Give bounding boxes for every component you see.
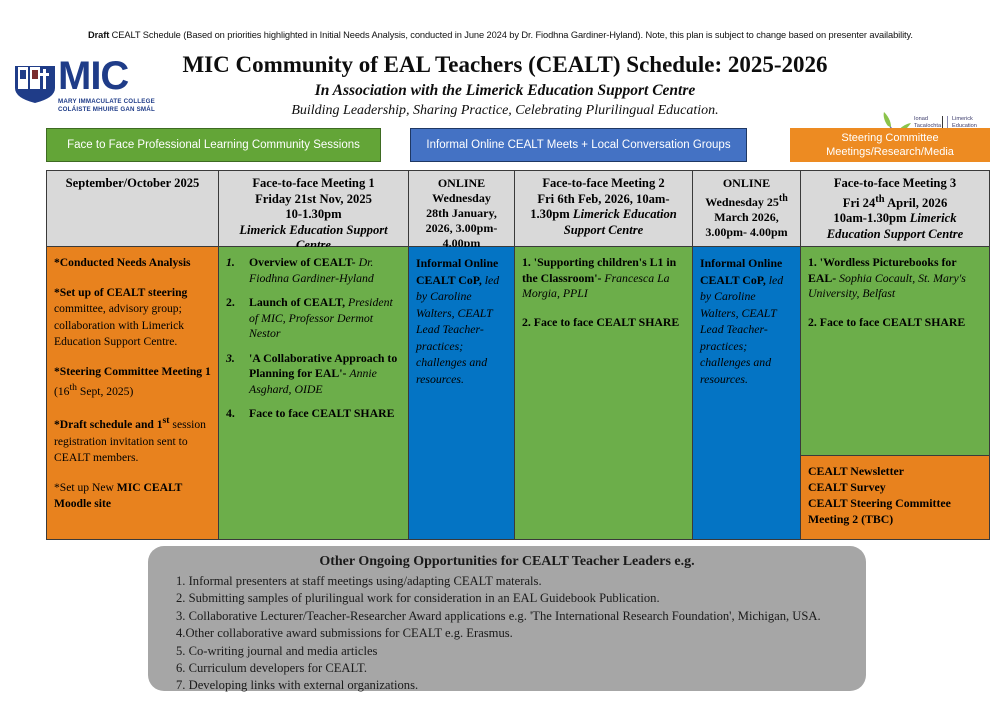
ongoing-opportunities-panel: Other Ongoing Opportunities for CEALT Te… (148, 546, 866, 691)
cell-paragraph: 2. Face to face CEALT SHARE (522, 315, 685, 331)
schedule-column-5: ONLINE Wednesday 25th March 2026, 3.00pm… (693, 171, 801, 539)
list-item-text: Launch of CEALT, President of MIC, Profe… (249, 295, 401, 342)
list-item-number: 1. (226, 255, 242, 286)
schedule-column-3: ONLINE Wednesday 28th January, 2026, 3.0… (409, 171, 515, 539)
column-body-1: *Conducted Needs Analysis *Set up of CEA… (47, 247, 218, 539)
cell-paragraph: *Steering Committee Meeting 1 (16th Sept… (54, 364, 211, 401)
list-item: 2. Submitting samples of plurilingual wo… (162, 590, 852, 607)
footer-line-1: CEALT Newsletter (808, 463, 982, 479)
column-header-4-line3: 1.30pm Limerick Education Support Centre (520, 207, 687, 238)
cell-paragraph: *Set up New MIC CEALT Moodle site (54, 480, 211, 513)
cell-paragraph: *Draft schedule and 1st session registra… (54, 413, 211, 466)
schedule-column-4: Face-to-face Meeting 2 Fri 6th Feb, 2026… (515, 171, 693, 539)
column-header-3-line2: Wednesday (414, 191, 509, 206)
column-header-2-line3: 10-1.30pm (224, 207, 403, 223)
mic-logo-letters: MIC (58, 56, 128, 96)
schedule-table: September/October 2025 *Conducted Needs … (46, 170, 990, 540)
footer-line-3: CEALT Steering Committee Meeting 2 (TBC) (808, 495, 982, 527)
column-header-3-line3: 28th January, (414, 206, 509, 221)
column-header-2-line2: Friday 21st Nov, 2025 (224, 192, 403, 208)
mic-crest-icon (14, 58, 56, 104)
mic-logo: MIC MARY IMMACULATE COLLEGE COLÁISTE MHU… (14, 58, 154, 118)
list-item: 2. Launch of CEALT, President of MIC, Pr… (226, 295, 401, 342)
schedule-column-2: Face-to-face Meeting 1 Friday 21st Nov, … (219, 171, 409, 539)
page-tagline: Building Leadership, Sharing Practice, C… (155, 102, 855, 120)
cell-paragraph: Informal Online CEALT CoP, led by Caroli… (416, 255, 507, 387)
list-item: 3. Collaborative Lecturer/Teacher-Resear… (162, 608, 852, 625)
cell-paragraph: 1. 'Wordless Picturebooks for EAL- Sophi… (808, 255, 982, 302)
cell-paragraph: 2. Face to face CEALT SHARE (808, 315, 982, 331)
mic-logo-subtitle: MARY IMMACULATE COLLEGE COLÁISTE MHUIRE … (58, 98, 158, 113)
column-header-4-line2: Fri 6th Feb, 2026, 10am- (520, 192, 687, 208)
legend-steering-line1: Steering Committee (826, 131, 954, 145)
column-header-6: Face-to-face Meeting 3 Fri 24th April, 2… (801, 171, 989, 247)
column-header-4: Face-to-face Meeting 2 Fri 6th Feb, 2026… (515, 171, 692, 247)
cell-paragraph: Informal Online CEALT CoP, led by Caroli… (700, 255, 793, 387)
document-header: MIC MARY IMMACULATE COLLEGE COLÁISTE MHU… (0, 50, 1000, 128)
column-header-5-line2: Wednesday 25th (698, 191, 795, 210)
list-item-text: Face to face CEALT SHARE (249, 406, 401, 422)
column-header-2-line1: Face-to-face Meeting 1 (224, 176, 403, 192)
column-header-6-line3: 10am-1.30pm Limerick Education Support C… (806, 211, 984, 242)
cell-paragraph: *Set up of CEALT steering committee, adv… (54, 285, 211, 351)
ongoing-title: Other Ongoing Opportunities for CEALT Te… (162, 553, 852, 571)
lesc-irish-l1: Ionad (914, 116, 942, 123)
page-title: MIC Community of EAL Teachers (CEALT) Sc… (155, 52, 855, 78)
session-list-2: 1. Overview of CEALT- Dr. Fiodhna Gardin… (226, 255, 401, 422)
column-header-5-line4: 3.00pm- 4.00pm (698, 225, 795, 240)
cell-paragraph: 1. 'Supporting children's L1 in the Clas… (522, 255, 685, 302)
legend-steering-line2: Meetings/Research/Media (826, 145, 954, 159)
column-header-4-line1: Face-to-face Meeting 2 (520, 176, 687, 192)
footer-line-2: CEALT Survey (808, 479, 982, 495)
column-body-3: Informal Online CEALT CoP, led by Caroli… (409, 247, 514, 539)
column-header-6-line1: Face-to-face Meeting 3 (806, 176, 984, 192)
column-header-5-line1: ONLINE (698, 176, 795, 191)
column-body-6-top: 1. 'Wordless Picturebooks for EAL- Sophi… (801, 247, 989, 455)
draft-note-text: CEALT Schedule (Based on priorities high… (109, 30, 913, 40)
page-subtitle: In Association with the Limerick Educati… (155, 81, 855, 101)
column-header-3-line4: 2026, 3.00pm- (414, 221, 509, 236)
column-header-1-line1: September/October 2025 (66, 176, 200, 190)
cell-paragraph: *Conducted Needs Analysis (54, 255, 211, 272)
column-header-5: ONLINE Wednesday 25th March 2026, 3.00pm… (693, 171, 800, 247)
column-body-2: 1. Overview of CEALT- Dr. Fiodhna Gardin… (219, 247, 408, 539)
list-item: 4. Face to face CEALT SHARE (226, 406, 401, 422)
column-header-1: September/October 2025 (47, 171, 218, 247)
lesc-en-l1: Limerick (952, 116, 977, 123)
column-header-5-line3: March 2026, (698, 210, 795, 225)
list-item-number: 3. (226, 351, 242, 398)
draft-note: Draft CEALT Schedule (Based on prioritie… (88, 30, 948, 40)
column-header-2: Face-to-face Meeting 1 Friday 21st Nov, … (219, 171, 408, 247)
legend-steering-committee: Steering Committee Meetings/Research/Med… (790, 128, 990, 162)
mic-logo-subtitle-en: MARY IMMACULATE COLLEGE (58, 98, 158, 106)
column-body-5: Informal Online CEALT CoP, led by Caroli… (693, 247, 800, 539)
legend-face-to-face: Face to Face Professional Learning Commu… (46, 128, 381, 162)
schedule-page: Draft CEALT Schedule (Based on prioritie… (0, 0, 1000, 702)
list-item-number: 4. (226, 406, 242, 422)
schedule-column-1: September/October 2025 *Conducted Needs … (47, 171, 219, 539)
mic-logo-subtitle-ga: COLÁISTE MHUIRE GAN SMÁL (58, 106, 158, 114)
cell-text: *Conducted Needs Analysis (54, 256, 191, 269)
column-body-6: 1. 'Wordless Picturebooks for EAL- Sophi… (801, 247, 989, 539)
column-body-4: 1. 'Supporting children's L1 in the Clas… (515, 247, 692, 539)
list-item: 4.Other collaborative award submissions … (162, 625, 852, 642)
list-item: 1. Overview of CEALT- Dr. Fiodhna Gardin… (226, 255, 401, 286)
list-item: 5. Co-writing journal and media articles (162, 643, 852, 660)
column-header-6-line2: Fri 24th April, 2026 (806, 192, 984, 212)
list-item-number: 2. (226, 295, 242, 342)
column-header-3-line1: ONLINE (414, 176, 509, 191)
list-item-text: Overview of CEALT- Dr. Fiodhna Gardiner-… (249, 255, 401, 286)
draft-note-prefix: Draft (88, 30, 109, 40)
column-header-3: ONLINE Wednesday 28th January, 2026, 3.0… (409, 171, 514, 247)
list-item: 7. Developing links with external organi… (162, 677, 852, 694)
list-item-text: 'A Collaborative Approach to Planning fo… (249, 351, 401, 398)
legend-bars: Face to Face Professional Learning Commu… (0, 128, 1000, 166)
list-item: 3. 'A Collaborative Approach to Planning… (226, 351, 401, 398)
title-block: MIC Community of EAL Teachers (CEALT) Sc… (155, 52, 855, 120)
legend-informal-online: Informal Online CEALT Meets + Local Conv… (410, 128, 747, 162)
list-item: 1. Informal presenters at staff meetings… (162, 573, 852, 590)
list-item: 6. Curriculum developers for CEALT. (162, 660, 852, 677)
ongoing-list: 1. Informal presenters at staff meetings… (162, 573, 852, 695)
column-body-6-bottom: CEALT Newsletter CEALT Survey CEALT Stee… (801, 455, 989, 539)
schedule-column-6: Face-to-face Meeting 3 Fri 24th April, 2… (801, 171, 989, 539)
